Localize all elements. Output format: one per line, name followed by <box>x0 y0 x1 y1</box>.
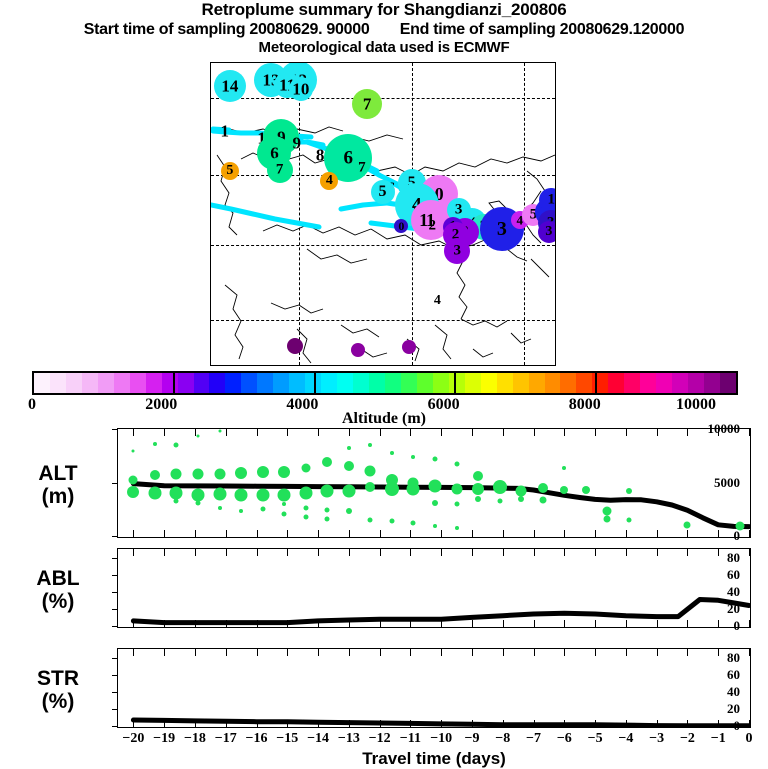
x-tick <box>257 620 258 627</box>
colorbar-divider <box>173 373 175 393</box>
alt-bubble <box>626 488 632 494</box>
colorbar-segment <box>289 373 305 393</box>
y-tick <box>112 626 118 627</box>
x-tick <box>595 429 596 436</box>
alt-bubble <box>127 486 139 498</box>
x-tick <box>257 649 258 656</box>
x-tick <box>410 720 411 727</box>
x-tick <box>534 429 535 436</box>
x-tick <box>226 649 227 656</box>
alt-panel-label: ALT (m) <box>8 462 108 508</box>
x-tick <box>749 720 750 727</box>
colorbar-segment <box>82 373 98 393</box>
alt-bubble <box>560 486 568 494</box>
start-time-label: Start time of sampling 20080629. 90000 <box>84 21 370 38</box>
x-tick <box>749 620 750 627</box>
x-tick <box>349 620 350 627</box>
x-tick <box>410 649 411 656</box>
alt-bubble <box>213 488 226 501</box>
colorbar-segment <box>529 373 545 393</box>
alt-bubble <box>303 514 308 519</box>
colorbar-segment <box>146 373 162 393</box>
x-tick <box>410 530 411 537</box>
alt-bubble <box>411 455 415 459</box>
alt-bubble <box>347 446 351 450</box>
x-tick-label: −20 <box>122 731 144 747</box>
y-tick-label: 20 <box>727 701 740 717</box>
map-marker-label: 7 <box>276 162 284 177</box>
x-tick <box>287 620 288 627</box>
alt-bubble <box>278 466 290 478</box>
y-tick-label: 40 <box>727 684 740 700</box>
x-tick <box>472 429 473 436</box>
map-marker-label: 3 <box>545 225 552 239</box>
str-line <box>118 649 749 726</box>
x-tick <box>595 649 596 656</box>
colorbar-segment <box>560 373 576 393</box>
alt-bubble <box>303 506 308 511</box>
map-marker-label: 10 <box>292 80 309 97</box>
x-tick <box>687 530 688 537</box>
alt-bubble <box>684 521 691 528</box>
colorbar-segment <box>624 373 640 393</box>
colorbar-segment <box>433 373 449 393</box>
x-tick <box>318 620 319 627</box>
alt-bubble <box>389 519 394 524</box>
altitude-colorbar[interactable] <box>32 371 738 395</box>
x-tick <box>626 620 627 627</box>
y-tick <box>112 558 118 559</box>
str-plot-area <box>118 649 750 727</box>
colorbar-segment <box>576 373 592 393</box>
alt-bubble <box>539 496 546 503</box>
x-tick <box>749 649 750 656</box>
x-tick <box>534 530 535 537</box>
abl-label-line1: ABL <box>8 567 108 590</box>
x-tick <box>441 620 442 627</box>
alt-bubble <box>475 496 481 502</box>
x-tick <box>380 429 381 436</box>
y-tick <box>112 592 118 593</box>
alt-bubble <box>153 442 157 446</box>
alt-bubble <box>132 449 135 452</box>
colorbar-segment <box>194 373 210 393</box>
x-tick-label: −8 <box>495 731 510 747</box>
colorbar-segment <box>417 373 433 393</box>
abl-panel-label: ABL (%) <box>8 567 108 613</box>
colorbar-divider <box>314 373 316 393</box>
colorbar-segment <box>401 373 417 393</box>
x-tick-label: −13 <box>338 731 360 747</box>
x-tick <box>503 720 504 727</box>
x-tick <box>257 530 258 537</box>
y-tick-label: 60 <box>727 567 740 583</box>
x-tick <box>441 720 442 727</box>
x-tick <box>687 549 688 556</box>
x-tick <box>380 530 381 537</box>
x-tick <box>657 429 658 436</box>
colorbar-divider <box>454 373 456 393</box>
map-marker-label: 7 <box>363 95 372 112</box>
alt-bubble <box>518 496 524 502</box>
alt-bubble <box>368 517 373 522</box>
colorbar-segment <box>608 373 624 393</box>
alt-bubble <box>582 486 590 494</box>
colorbar-segment <box>337 373 353 393</box>
alt-bubble <box>454 462 459 467</box>
alt-bubble <box>451 484 462 495</box>
alt-bubble <box>174 498 179 503</box>
colorbar-segment <box>130 373 146 393</box>
x-tick <box>226 549 227 556</box>
x-tick <box>534 549 535 556</box>
x-tick <box>380 720 381 727</box>
x-tick <box>687 649 688 656</box>
y-tick <box>112 483 118 484</box>
x-tick <box>564 549 565 556</box>
y-tick <box>112 536 118 537</box>
x-tick <box>318 549 319 556</box>
x-tick <box>164 720 165 727</box>
x-tick <box>441 549 442 556</box>
sampling-time-line: Start time of sampling 20080629. 90000 E… <box>0 20 768 39</box>
alt-bubble <box>239 509 243 513</box>
x-tick <box>195 649 196 656</box>
colorbar-segment <box>34 373 50 393</box>
x-tick <box>349 549 350 556</box>
alt-bubble <box>497 498 502 503</box>
colorbar-segment <box>385 373 401 393</box>
colorbar-segment <box>672 373 688 393</box>
str-panel[interactable]: 806040200 <box>117 648 751 728</box>
colorbar-segment <box>465 373 481 393</box>
x-tick <box>257 429 258 436</box>
alt-bubble <box>214 469 225 480</box>
colorbar-segment <box>66 373 82 393</box>
x-tick <box>133 530 134 537</box>
x-tick <box>441 530 442 537</box>
colorbar-segment <box>353 373 369 393</box>
x-tick <box>503 549 504 556</box>
x-tick <box>226 530 227 537</box>
x-tick <box>287 429 288 436</box>
alt-bubble <box>301 463 310 472</box>
x-tick <box>564 649 565 656</box>
y-tick-label: 0 <box>734 528 741 544</box>
str-label-line1: STR <box>8 667 108 690</box>
colorbar-segment <box>545 373 561 393</box>
alt-bubble <box>257 466 269 478</box>
x-tick <box>195 429 196 436</box>
x-tick-label: −3 <box>649 731 664 747</box>
map-marker <box>287 338 303 354</box>
x-tick <box>626 649 627 656</box>
x-tick <box>657 530 658 537</box>
y-tick-label: 40 <box>727 584 740 600</box>
x-tick-label: −15 <box>276 731 298 747</box>
alt-bubble <box>325 507 330 512</box>
colorbar-segment <box>273 373 289 393</box>
alt-bubble <box>129 475 138 484</box>
x-tick <box>534 720 535 727</box>
alt-bubble <box>432 500 438 506</box>
alt-bubble <box>260 507 265 512</box>
map-marker-label: 1 <box>419 211 428 229</box>
alt-bubble <box>278 489 291 502</box>
alt-bubble <box>365 465 376 476</box>
map-marker-label: 0 <box>398 220 404 232</box>
x-tick <box>380 620 381 627</box>
colorbar-segment <box>178 373 194 393</box>
x-tick <box>687 720 688 727</box>
colorbar-segment <box>513 373 529 393</box>
alt-bubble <box>407 483 420 496</box>
y-tick-label: 0 <box>734 618 741 634</box>
alt-bubble <box>473 471 483 481</box>
alt-bubble <box>472 483 484 495</box>
x-tick <box>164 530 165 537</box>
map-marker <box>351 343 365 357</box>
map-marker-label: 5 <box>226 164 233 178</box>
alt-bubble <box>493 480 507 494</box>
alt-label-line1: ALT <box>8 462 108 485</box>
x-tick-label: −10 <box>430 731 452 747</box>
x-tick <box>564 429 565 436</box>
x-tick <box>349 649 350 656</box>
x-tick <box>287 649 288 656</box>
x-tick <box>534 620 535 627</box>
x-tick <box>195 620 196 627</box>
x-tick <box>133 649 134 656</box>
y-tick <box>112 429 118 430</box>
map-inner: 1413121110711099686577465550451123423212… <box>211 63 555 365</box>
colorbar-segment <box>656 373 672 393</box>
alt-bubble <box>325 516 330 521</box>
alt-bubble <box>411 521 416 526</box>
x-tick <box>595 720 596 727</box>
y-tick-label: 0 <box>734 718 741 734</box>
x-tick <box>441 429 442 436</box>
x-tick <box>626 549 627 556</box>
map-marker-label: 4 <box>326 174 333 188</box>
y-tick-label: 60 <box>727 667 740 683</box>
map-marker-label: 4 <box>434 294 441 308</box>
y-tick <box>112 575 118 576</box>
alt-bubble <box>433 456 438 461</box>
x-tick <box>657 649 658 656</box>
alt-bubble <box>342 485 355 498</box>
x-tick <box>226 429 227 436</box>
x-tick <box>687 429 688 436</box>
alt-bubble <box>322 457 332 467</box>
colorbar-segment <box>98 373 114 393</box>
alt-bubble <box>197 435 200 438</box>
x-tick-label: −18 <box>184 731 206 747</box>
alt-bubble <box>299 487 312 500</box>
colorbar-title: Altitude (m) <box>0 410 768 428</box>
x-tick <box>133 429 134 436</box>
colorbar-segment <box>50 373 66 393</box>
alt-bubble <box>321 485 334 498</box>
colorbar-segment <box>704 373 720 393</box>
x-tick <box>287 549 288 556</box>
alt-bubble <box>193 468 204 479</box>
x-tick <box>626 720 627 727</box>
x-tick <box>687 620 688 627</box>
x-tick <box>503 649 504 656</box>
x-tick <box>226 620 227 627</box>
map-marker-label: 2 <box>428 218 436 233</box>
map-marker-label: 1 <box>548 192 556 207</box>
y-tick-label: 80 <box>727 550 740 566</box>
alt-bubble <box>562 466 566 470</box>
x-tick <box>503 429 504 436</box>
x-tick <box>718 720 719 727</box>
alt-panel[interactable]: 1000050000 <box>117 428 751 538</box>
alt-bubble <box>256 488 269 501</box>
x-tick <box>287 720 288 727</box>
x-tick <box>380 649 381 656</box>
alt-bubble <box>604 515 611 522</box>
x-tick-label: −4 <box>618 731 633 747</box>
alt-bubble <box>150 470 160 480</box>
map-marker-label: 5 <box>379 184 387 200</box>
x-tick <box>657 549 658 556</box>
colorbar-segment <box>688 373 704 393</box>
x-tick <box>564 720 565 727</box>
alt-bubble <box>218 506 222 510</box>
end-time-label: End time of sampling 20080629.120000 <box>400 21 684 38</box>
title-block: Retroplume summary for Shangdianzi_20080… <box>0 0 768 57</box>
abl-label-line2: (%) <box>8 590 108 613</box>
y-tick-label: 80 <box>727 650 740 666</box>
alt-bubble <box>390 451 394 455</box>
x-tick <box>164 620 165 627</box>
colorbar-segment <box>257 373 273 393</box>
x-tick <box>441 649 442 656</box>
x-tick <box>410 549 411 556</box>
alt-bubble <box>538 483 548 493</box>
colorbar-segment <box>481 373 497 393</box>
y-tick <box>112 609 118 610</box>
colorbar-segment <box>449 373 465 393</box>
colorbar-segment <box>209 373 225 393</box>
x-tick <box>472 620 473 627</box>
x-tick-label: −9 <box>464 731 479 747</box>
y-tick-label: 10000 <box>708 421 741 437</box>
x-tick-label: −16 <box>246 731 268 747</box>
x-tick-label: 0 <box>746 731 753 747</box>
x-tick-label: −5 <box>588 731 603 747</box>
alt-bubble <box>282 511 287 516</box>
x-tick <box>287 530 288 537</box>
y-tick <box>112 709 118 710</box>
x-tick <box>349 720 350 727</box>
abl-panel[interactable]: 806040200 <box>117 548 751 628</box>
abl-plot-area <box>118 549 750 627</box>
x-tick-label: −14 <box>307 731 329 747</box>
xaxis-title: Travel time (days) <box>117 749 751 769</box>
alt-bubble <box>235 467 247 479</box>
x-tick <box>657 620 658 627</box>
alt-label-line2: (m) <box>8 485 108 508</box>
x-tick <box>749 530 750 537</box>
colorbar-segment <box>720 373 736 393</box>
map-marker-label: 14 <box>221 77 238 94</box>
y-tick <box>112 726 118 727</box>
colorbar-segment <box>114 373 130 393</box>
x-tick <box>195 530 196 537</box>
alt-bubble <box>433 524 437 528</box>
x-tick-label: −2 <box>680 731 695 747</box>
x-tick-label: −7 <box>526 731 541 747</box>
x-tick <box>164 549 165 556</box>
x-tick <box>164 649 165 656</box>
colorbar-segment <box>321 373 337 393</box>
map-marker-label: 3 <box>454 244 462 259</box>
x-tick <box>349 429 350 436</box>
x-tick <box>626 530 627 537</box>
x-tick-label: −11 <box>400 731 421 747</box>
retroplume-map[interactable]: 1413121110711099686577465550451123423212… <box>210 62 556 366</box>
x-tick <box>657 720 658 727</box>
x-tick <box>595 530 596 537</box>
x-tick <box>410 429 411 436</box>
colorbar-segment <box>369 373 385 393</box>
alt-bubble <box>454 501 459 506</box>
alt-plot-area <box>118 429 750 537</box>
x-tick-label: −1 <box>711 731 726 747</box>
x-tick <box>133 549 134 556</box>
x-tick <box>195 720 196 727</box>
x-tick <box>195 549 196 556</box>
colorbar-segment <box>225 373 241 393</box>
colorbar-segment <box>497 373 513 393</box>
abl-line <box>118 549 749 626</box>
x-tick <box>595 549 596 556</box>
alt-bubble <box>455 526 459 530</box>
x-tick-label: −6 <box>557 731 572 747</box>
alt-bubble <box>174 443 179 448</box>
x-tick <box>380 549 381 556</box>
y-tick-label: 20 <box>727 601 740 617</box>
alt-bubble <box>626 517 631 522</box>
x-tick <box>318 429 319 436</box>
map-marker-label: 9 <box>293 134 302 151</box>
alt-bubble <box>429 479 442 492</box>
x-tick <box>718 530 719 537</box>
str-panel-label: STR (%) <box>8 667 108 713</box>
y-tick <box>112 692 118 693</box>
x-tick <box>472 720 473 727</box>
y-tick <box>112 658 118 659</box>
alt-bubble <box>368 443 372 447</box>
alt-bubble <box>344 461 354 471</box>
alt-bubble <box>365 482 375 492</box>
x-tick-label: −19 <box>153 731 175 747</box>
x-tick <box>472 649 473 656</box>
y-tick-label: 5000 <box>714 475 740 491</box>
map-marker-label: 6 <box>343 148 353 167</box>
x-tick <box>564 530 565 537</box>
x-tick-label: −12 <box>369 731 391 747</box>
alt-bubble <box>282 502 286 506</box>
x-tick <box>133 720 134 727</box>
x-tick <box>503 530 504 537</box>
alt-bubble <box>346 508 352 514</box>
alt-bubble <box>235 489 248 502</box>
map-marker-label: 3 <box>497 219 507 239</box>
